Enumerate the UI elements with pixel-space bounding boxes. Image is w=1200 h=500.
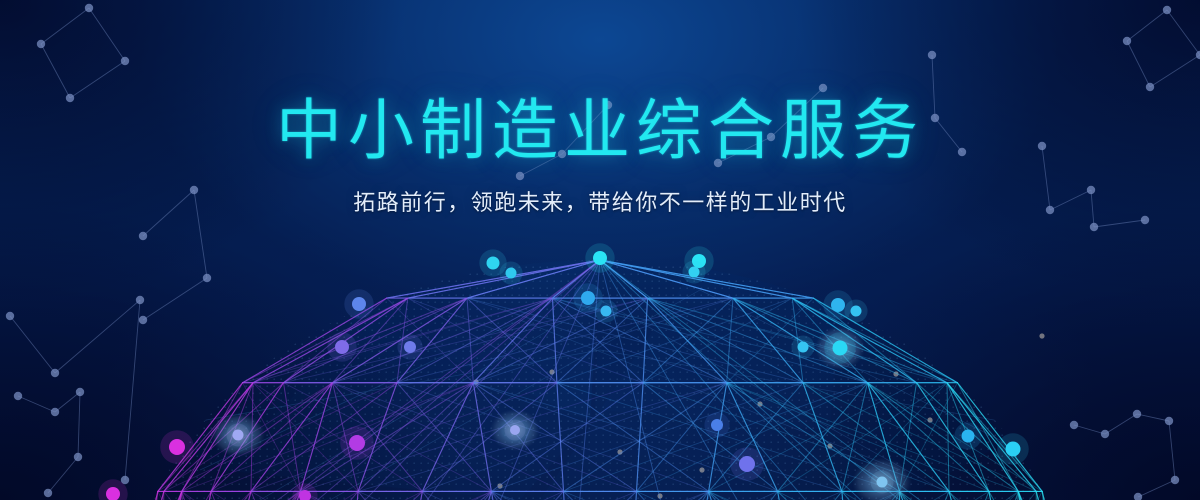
node-r-mid2 (798, 342, 809, 353)
globe-edge (557, 383, 564, 492)
globe-edge (792, 298, 947, 383)
globe-edge (648, 298, 804, 383)
node-lu1 (352, 297, 366, 311)
globe-edge (145, 491, 211, 500)
hero-banner: 中小制造业综合服务 拓路前行，领跑未来，带给你不一样的工业时代 (0, 0, 1200, 500)
globe-edge (745, 491, 842, 500)
node-c-blue (711, 419, 723, 431)
globe-edge (301, 491, 512, 500)
globe-edge (989, 491, 1055, 500)
node-apex-left (487, 257, 500, 270)
page-title: 中小制造业综合服务 (0, 96, 1200, 165)
node-glow-c (510, 425, 520, 435)
node-left-mag1 (169, 439, 185, 455)
globe-edge (949, 491, 1070, 500)
globe-edge (422, 491, 688, 500)
node-r-mid3 (833, 341, 848, 356)
globe-edge (251, 491, 455, 500)
node-ru2 (851, 306, 862, 317)
globe-edge (512, 491, 778, 500)
globe-edge (253, 383, 422, 492)
globe-edge (134, 491, 164, 500)
globe-edge (1042, 491, 1070, 500)
globe-edge (130, 491, 251, 500)
globe-edge (557, 383, 709, 492)
globe-edge (900, 491, 981, 500)
node-lu3 (404, 341, 416, 353)
globe-edge (422, 491, 512, 500)
node-mag-mid (349, 435, 365, 451)
globe-edge (473, 383, 491, 492)
page-subtitle: 拓路前行，领跑未来，带给你不一样的工业时代 (0, 185, 1200, 217)
globe-edge (243, 298, 408, 383)
globe-edge (130, 491, 158, 500)
globe-edge (803, 383, 1036, 492)
globe-edge (473, 298, 647, 383)
node-upper-mid (581, 291, 595, 305)
node-apex (593, 251, 607, 265)
globe-edge (637, 383, 644, 492)
globe-edge (188, 260, 600, 500)
globe-edge (600, 260, 733, 298)
node-glow-l (233, 430, 244, 441)
globe-edge (182, 491, 301, 500)
banner-text-block: 中小制造业综合服务 拓路前行，领跑未来，带给你不一样的工业时代 (0, 96, 1200, 217)
node-upper-mid-lo (601, 306, 612, 317)
node-c-violet (739, 456, 755, 472)
globe-edge (900, 491, 1012, 500)
globe-edge (145, 260, 600, 500)
node-apex-left-lo (506, 268, 517, 279)
node-glow-b (877, 477, 888, 488)
globe-edge (727, 298, 733, 383)
globe-edge (284, 298, 468, 383)
node-ru1 (831, 298, 845, 312)
node-r-low2 (1006, 442, 1021, 457)
globe-edge (301, 491, 571, 500)
node-apex-right-lo (689, 267, 700, 278)
node-lu2 (335, 340, 349, 354)
network-globe (0, 0, 1200, 500)
globe-edge (1036, 491, 1066, 500)
globe-edge (733, 298, 803, 383)
globe-edge (600, 260, 1037, 500)
node-r-low1 (962, 430, 975, 443)
globe-edge (220, 491, 301, 500)
